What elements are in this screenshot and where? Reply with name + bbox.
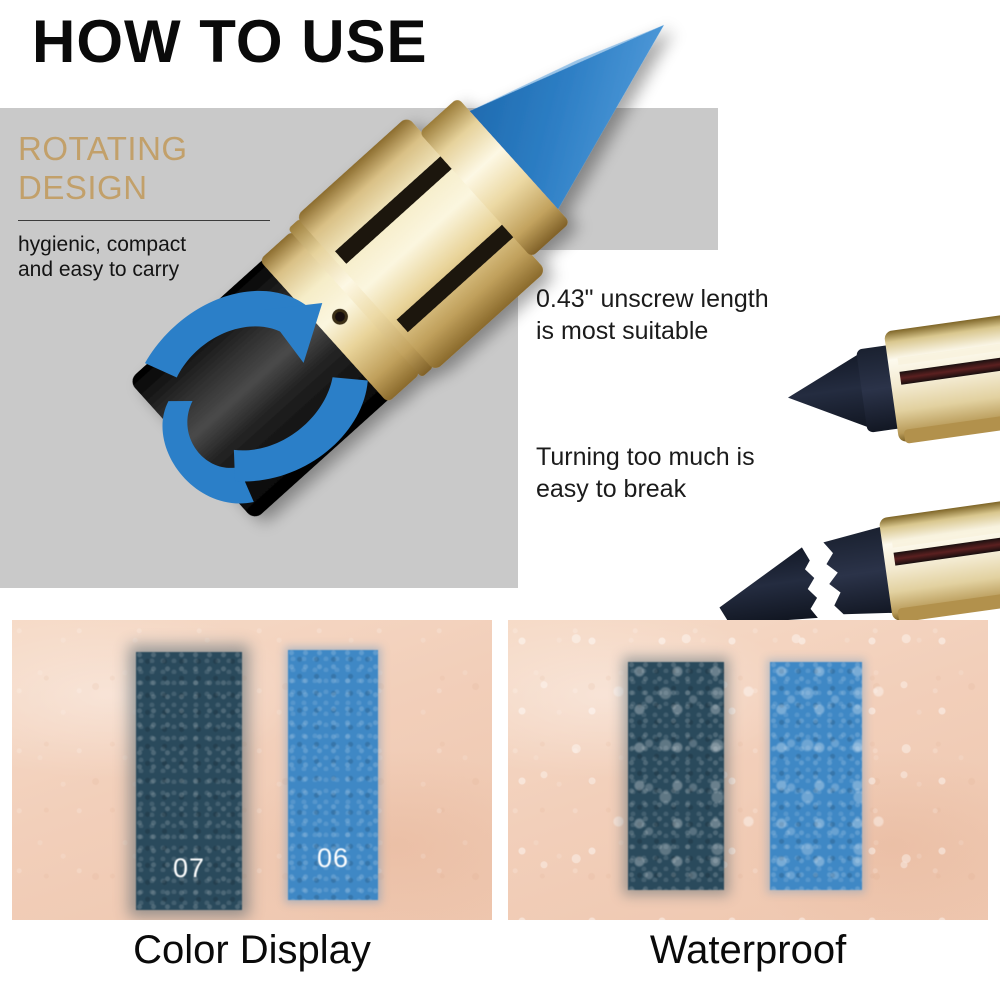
waterproof-caption: Waterproof [508, 928, 988, 973]
rotating-design-panel-body [0, 250, 518, 588]
unscrew-length-note-line1: 0.43" unscrew length [536, 283, 769, 315]
waterproof-swatch-light [770, 662, 862, 890]
unscrew-length-note: 0.43" unscrew length is most suitable [536, 283, 769, 347]
swatch-water-beads [628, 662, 724, 890]
infographic-canvas: HOW TO USE ROTATING DESIGN hygienic, com… [0, 0, 1000, 1000]
water-droplets-overlay [508, 620, 988, 920]
page-title: HOW TO USE [32, 10, 428, 73]
turning-warning-note-line2: easy to break [536, 473, 755, 505]
swatch-07: 07 [136, 652, 242, 910]
rotating-design-subtext-line1: hygienic, compact [18, 232, 293, 258]
turning-warning-note: Turning too much is easy to break [536, 441, 755, 505]
waterproof-panel [508, 620, 988, 920]
waterproof-swatch-dark [628, 662, 724, 890]
skin-texture-overlay [12, 620, 492, 920]
rotating-design-text-block: ROTATING DESIGN hygienic, compact and ea… [18, 130, 293, 283]
swatch-06-label: 06 [288, 843, 378, 874]
rotating-design-heading-line2: DESIGN [18, 169, 293, 208]
instructions-card: 0.43" unscrew length is most suitable Tu… [518, 253, 1000, 588]
color-display-panel: 07 06 [12, 620, 492, 920]
swatch-06: 06 [288, 650, 378, 900]
rotating-design-heading: ROTATING DESIGN [18, 130, 293, 208]
swatch-water-beads [770, 662, 862, 890]
rotating-design-subtext: hygienic, compact and easy to carry [18, 232, 293, 283]
rotating-design-heading-line1: ROTATING [18, 130, 293, 169]
unscrew-length-note-line2: is most suitable [536, 315, 769, 347]
rotating-design-subtext-line2: and easy to carry [18, 257, 293, 283]
color-display-caption: Color Display [12, 928, 492, 973]
swatch-07-label: 07 [136, 853, 242, 884]
turning-warning-note-line1: Turning too much is [536, 441, 755, 473]
divider-line [18, 220, 270, 221]
